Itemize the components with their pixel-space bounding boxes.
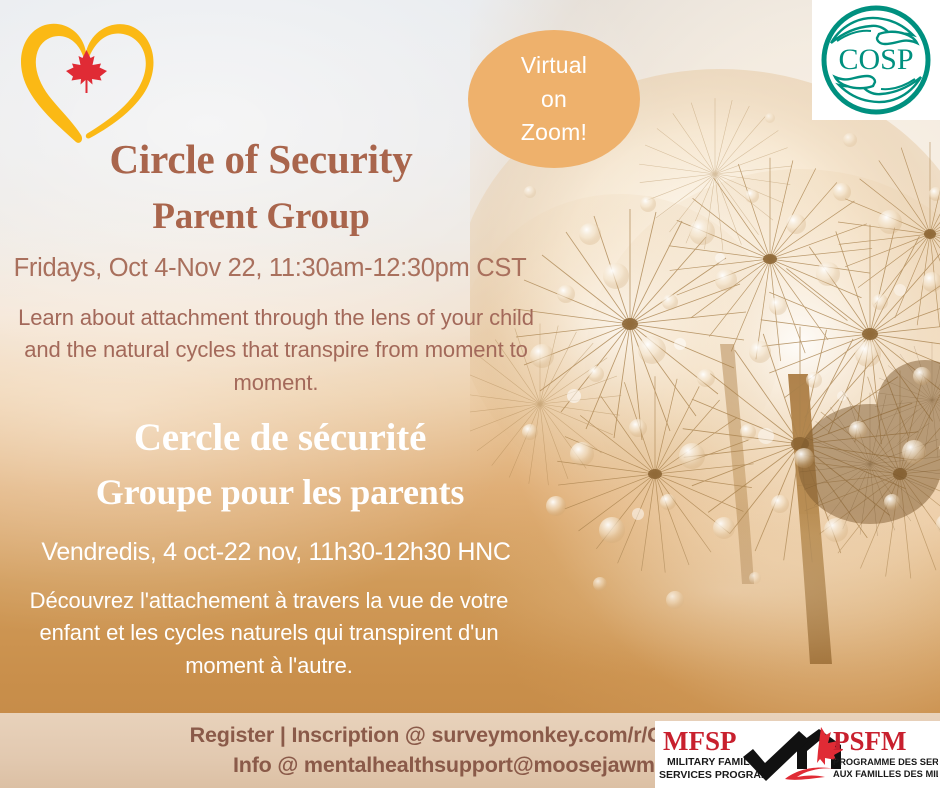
english-title-line-1: Circle of Security (0, 139, 522, 180)
badge-line-2: on (541, 83, 567, 116)
poster-root: COSP Virtual on Zoom! Circle of Security… (0, 0, 940, 788)
english-title-line-2: Parent Group (0, 198, 522, 235)
psfm-subtitle-line-2: AUX FAMILLES DES MILITAIRES (833, 769, 938, 779)
badge-line-3: Zoom! (521, 116, 587, 149)
cosp-logo-text: COSP (838, 43, 913, 76)
english-description: Learn about attachment through the lens … (0, 302, 552, 399)
mfsp-acronym-text: MFSP (663, 726, 737, 756)
english-schedule: Fridays, Oct 4-Nov 22, 11:30am-12:30pm C… (0, 254, 540, 282)
canadian-heart-logo (12, 14, 162, 149)
french-title-line-1: Cercle de sécurité (0, 418, 560, 457)
badge-line-1: Virtual (521, 49, 587, 82)
cosp-logo: COSP (812, 0, 940, 120)
mfsp-subtitle-line-1: MILITARY FAMILY (667, 756, 756, 768)
psfm-acronym-text: PSFM (833, 726, 907, 756)
footer-bar: Register | Inscription @ surveymonkey.co… (0, 713, 940, 788)
mfsp-psfm-logo: MFSP MILITARY FAMILY SERVICES PROGRAM PS… (655, 721, 940, 788)
french-title-line-2: Groupe pour les parents (0, 474, 560, 510)
mfsp-subtitle-line-2: SERVICES PROGRAM (659, 769, 770, 781)
french-schedule: Vendredis, 4 oct-22 nov, 11h30-12h30 HNC (0, 539, 552, 567)
french-description: Découvrez l'attachement à travers la vue… (0, 585, 538, 682)
psfm-subtitle-line-1: PROGRAMME DES SERVICES (833, 757, 938, 767)
